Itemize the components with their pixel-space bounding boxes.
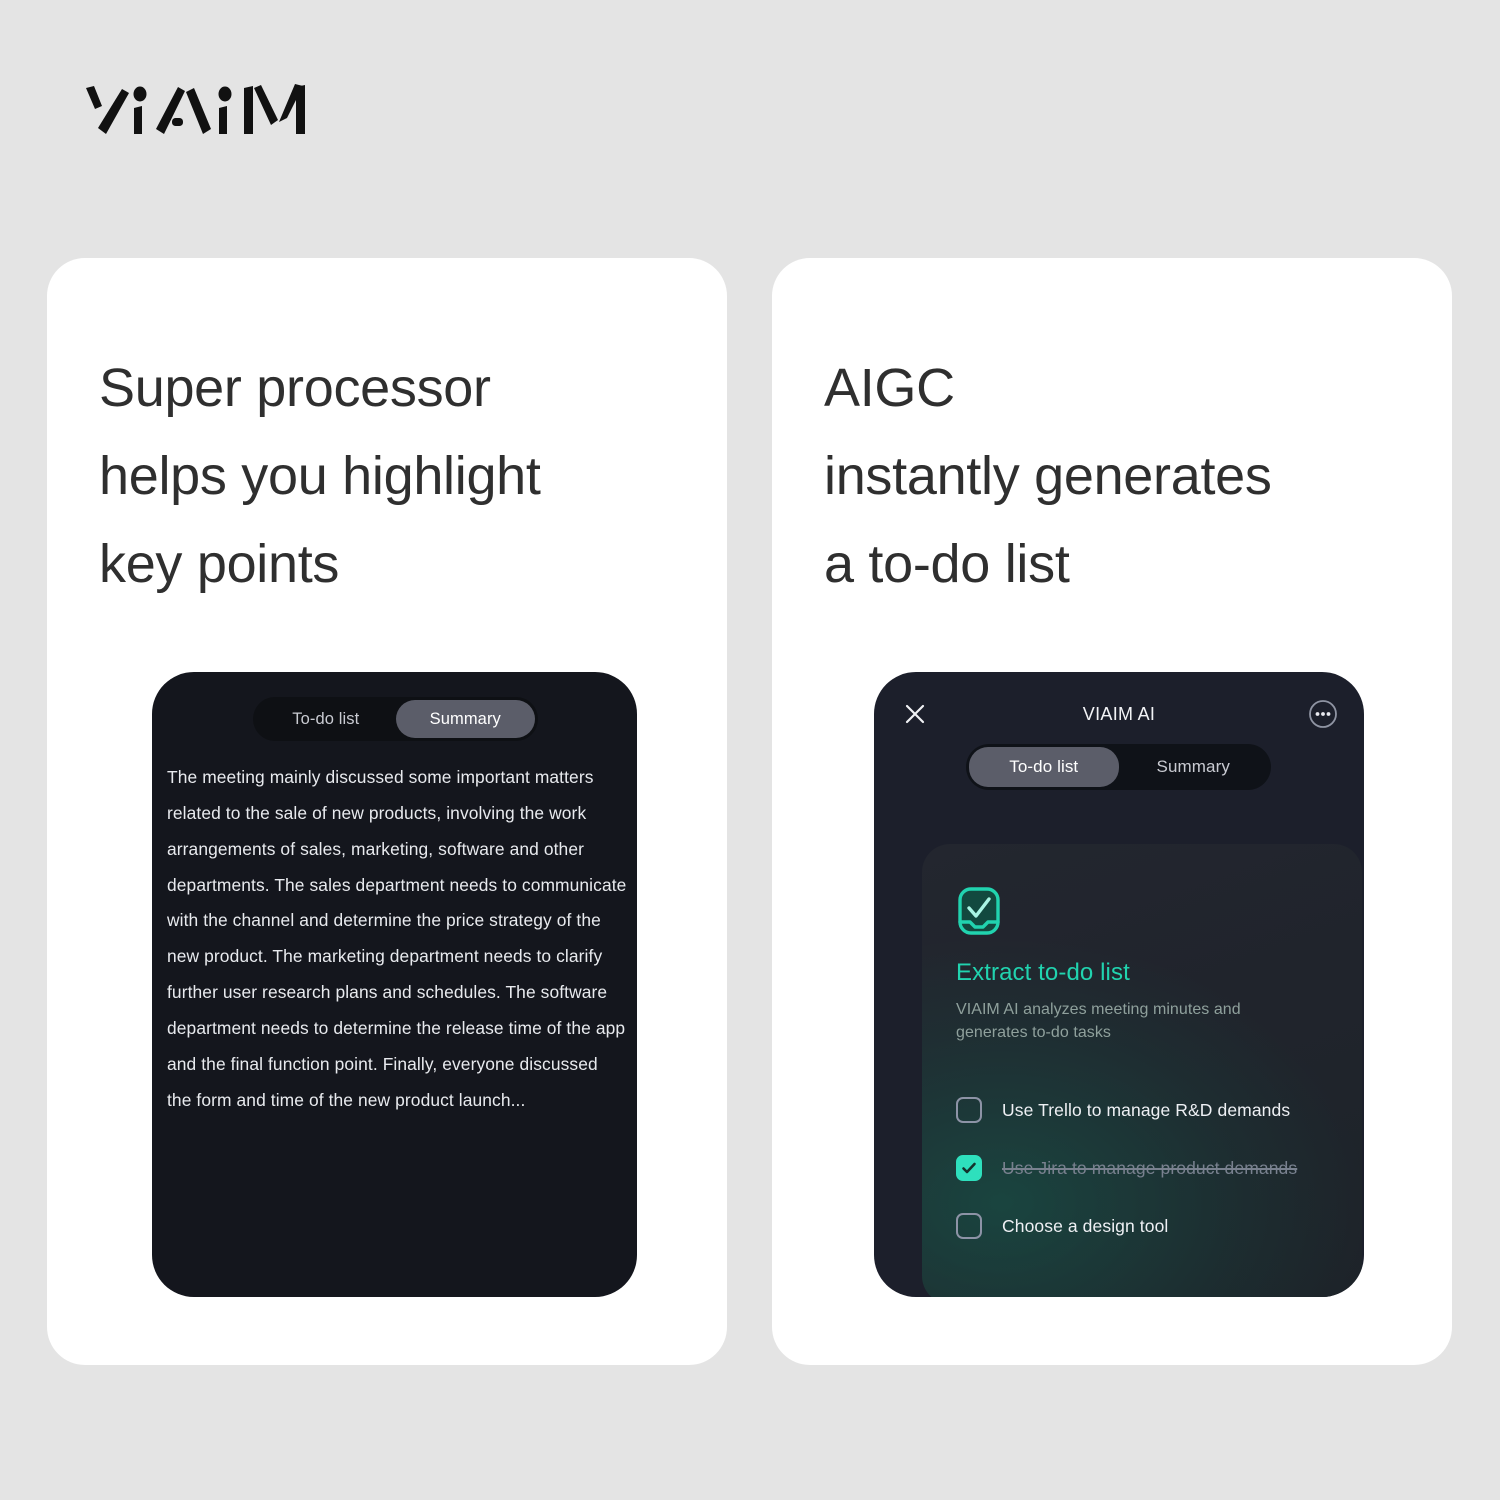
feature-cards: Super processor helps you highlight key … bbox=[47, 258, 1453, 1365]
todo-label: Choose a design tool bbox=[1002, 1216, 1168, 1237]
more-options-icon[interactable] bbox=[1304, 695, 1342, 733]
feature-card-todo: AIGC instantly generates a to-do list VI… bbox=[772, 258, 1452, 1365]
checkbox-unchecked-icon[interactable] bbox=[956, 1213, 982, 1239]
phone-mockup-summary: To-do list Summary The meeting mainly di… bbox=[152, 672, 637, 1297]
tab-switcher-summary[interactable]: To-do list Summary bbox=[253, 697, 538, 741]
summary-text: The meeting mainly discussed some import… bbox=[167, 760, 627, 1118]
extract-title: Extract to-do list bbox=[956, 959, 1130, 987]
tab-summary[interactable]: Summary bbox=[396, 700, 536, 738]
app-title: VIAIM AI bbox=[934, 704, 1304, 725]
checkbox-checked-icon[interactable] bbox=[956, 1155, 982, 1181]
card-headline: Super processor helps you highlight key … bbox=[99, 344, 699, 608]
list-item[interactable]: Choose a design tool bbox=[956, 1197, 1328, 1255]
phone-mockup-todo: VIAIM AI To-do list Summary bbox=[874, 672, 1364, 1297]
card-headline: AIGC instantly generates a to-do list bbox=[824, 344, 1424, 608]
viaim-logo bbox=[82, 82, 342, 144]
list-item[interactable]: Use Trello to manage R&D demands bbox=[956, 1081, 1328, 1139]
list-item[interactable]: Use Jira to manage product demands bbox=[956, 1139, 1328, 1197]
checkbox-unchecked-icon[interactable] bbox=[956, 1097, 982, 1123]
extract-subtitle: VIAIM AI analyzes meeting minutes and ge… bbox=[956, 999, 1306, 1044]
todo-list: Use Trello to manage R&D demands Use Jir… bbox=[922, 1081, 1362, 1255]
tab-switcher-todo[interactable]: To-do list Summary bbox=[966, 744, 1271, 790]
tab-todo-list[interactable]: To-do list bbox=[256, 700, 396, 738]
tab-summary[interactable]: Summary bbox=[1119, 747, 1269, 787]
app-header: VIAIM AI bbox=[874, 694, 1364, 734]
todo-label: Use Jira to manage product demands bbox=[1002, 1158, 1297, 1179]
close-icon[interactable] bbox=[896, 695, 934, 733]
todo-label: Use Trello to manage R&D demands bbox=[1002, 1100, 1290, 1121]
tray-check-icon bbox=[956, 886, 1002, 936]
extract-todo-card: Extract to-do list VIAIM AI analyzes mee… bbox=[922, 844, 1362, 1297]
tab-todo-list[interactable]: To-do list bbox=[969, 747, 1119, 787]
feature-card-summary: Super processor helps you highlight key … bbox=[47, 258, 727, 1365]
